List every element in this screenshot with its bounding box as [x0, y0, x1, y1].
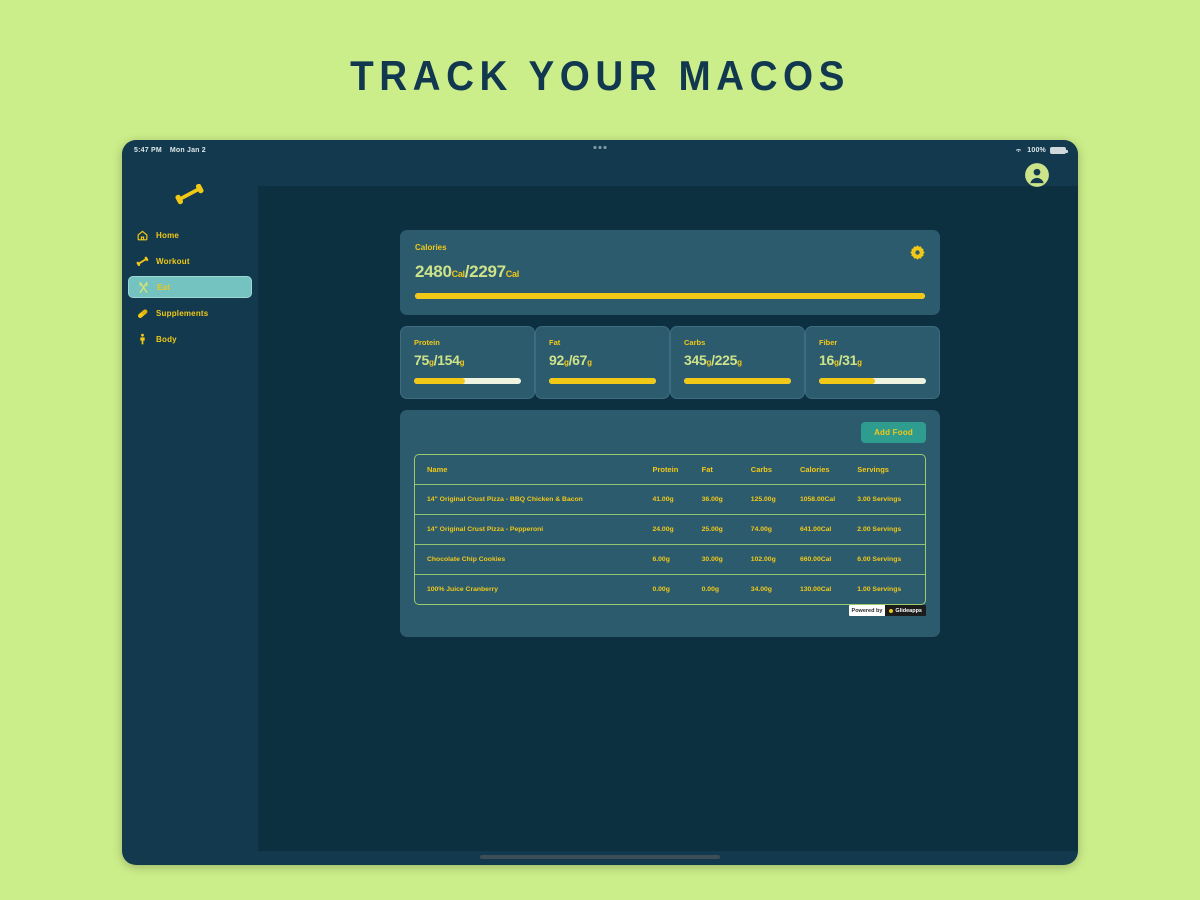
eat-dashboard: Calories 2480Cal/2297Cal Protein 75g/15 [400, 230, 940, 648]
sidebar-item-body[interactable]: Body [128, 328, 252, 350]
macro-card-carbs: Carbs 345g/225g [670, 326, 805, 399]
macro-progress-bar [549, 378, 656, 384]
cell-fat: 30.00g [698, 545, 747, 575]
macro-goal-unit: g [737, 358, 742, 367]
calories-progress-fill [415, 293, 925, 299]
sidebar-item-label: Supplements [156, 309, 208, 318]
sidebar-item-label: Body [156, 335, 177, 344]
macro-goal: 154 [437, 352, 459, 368]
macro-progress-bar [414, 378, 521, 384]
calories-consumed: 2480 [415, 262, 452, 281]
cell-servings: 3.00 Servings [853, 485, 925, 515]
macro-label: Fat [549, 338, 656, 347]
sidebar-item-eat[interactable]: Eat [128, 276, 252, 298]
cell-carbs: 125.00g [747, 485, 796, 515]
column-header-carbs[interactable]: Carbs [747, 455, 796, 485]
macro-progress-fill [549, 378, 656, 384]
table-row[interactable]: Chocolate Chip Cookies 6.00g 30.00g 102.… [415, 545, 925, 575]
macro-progress-fill [819, 378, 875, 384]
status-time: 5:47 PM [134, 147, 162, 154]
macro-value: 345g/225g [684, 352, 791, 368]
column-header-servings[interactable]: Servings [853, 455, 925, 485]
sidebar-item-workout[interactable]: Workout [128, 250, 252, 272]
add-food-button[interactable]: Add Food [861, 422, 926, 443]
cell-protein: 41.00g [648, 485, 697, 515]
macro-current: 75 [414, 352, 429, 368]
macro-goal-unit: g [857, 358, 862, 367]
sidebar-item-label: Workout [156, 257, 190, 266]
dumbbell-logo-icon [175, 184, 205, 206]
main-content-panel: Calories 2480Cal/2297Cal Protein 75g/15 [258, 186, 1078, 851]
macro-progress-fill [684, 378, 791, 384]
calories-consumed-unit: Cal [452, 269, 465, 279]
column-header-fat[interactable]: Fat [698, 455, 747, 485]
cell-protein: 6.00g [648, 545, 697, 575]
calories-card: Calories 2480Cal/2297Cal [400, 230, 940, 315]
camera-notch-icon [594, 146, 607, 149]
sidebar-item-label: Home [156, 231, 179, 240]
calories-progress-bar [415, 293, 925, 299]
person-icon [136, 333, 149, 346]
macro-card-protein: Protein 75g/154g [400, 326, 535, 399]
tablet-device-frame: 5:47 PM Mon Jan 2 100% [122, 140, 1078, 865]
macro-unit: g [429, 358, 434, 367]
calories-label: Calories [415, 243, 925, 252]
watermark-logo-icon [889, 609, 893, 613]
cell-servings: 6.00 Servings [853, 545, 925, 575]
cell-carbs: 34.00g [747, 575, 796, 605]
macro-unit: g [706, 358, 711, 367]
cell-servings: 2.00 Servings [853, 515, 925, 545]
macro-goal-unit: g [587, 358, 592, 367]
cell-calories: 130.00Cal [796, 575, 853, 605]
cell-carbs: 74.00g [747, 515, 796, 545]
cell-name: 100% Juice Cranberry [415, 575, 648, 605]
watermark-brand-label: Glideapps [895, 608, 922, 614]
wifi-icon [1014, 146, 1023, 154]
cell-name: 14" Original Crust Pizza - BBQ Chicken &… [415, 485, 648, 515]
macro-unit: g [564, 358, 569, 367]
cell-fat: 25.00g [698, 515, 747, 545]
macro-current: 16 [819, 352, 834, 368]
macro-goal: 225 [715, 352, 737, 368]
home-icon [136, 229, 149, 242]
calories-goal: 2297 [469, 262, 506, 281]
column-header-name[interactable]: Name [415, 455, 648, 485]
cell-calories: 660.00Cal [796, 545, 853, 575]
macro-goal: 67 [572, 352, 587, 368]
app-logo [122, 178, 258, 212]
sidebar-item-supplements[interactable]: Supplements [128, 302, 252, 324]
cell-fat: 0.00g [698, 575, 747, 605]
page-title: TRACK YOUR MACOS [48, 52, 1152, 100]
column-header-protein[interactable]: Protein [648, 455, 697, 485]
macro-value: 16g/31g [819, 352, 926, 368]
macro-progress-bar [684, 378, 791, 384]
macro-value: 75g/154g [414, 352, 521, 368]
watermark-brand: Glideapps [885, 605, 926, 616]
battery-icon [1050, 147, 1066, 154]
pill-icon [136, 307, 149, 320]
macro-value: 92g/67g [549, 352, 656, 368]
cell-protein: 0.00g [648, 575, 697, 605]
cell-servings: 1.00 Servings [853, 575, 925, 605]
table-row[interactable]: 100% Juice Cranberry 0.00g 0.00g 34.00g … [415, 575, 925, 605]
cell-fat: 36.00g [698, 485, 747, 515]
macro-unit: g [834, 358, 839, 367]
column-header-calories[interactable]: Calories [796, 455, 853, 485]
home-indicator [480, 855, 720, 859]
macro-goal: 31 [842, 352, 857, 368]
watermark-prefix: Powered by [849, 605, 886, 616]
macro-label: Protein [414, 338, 521, 347]
sidebar-item-home[interactable]: Home [128, 224, 252, 246]
status-date: Mon Jan 2 [170, 147, 206, 154]
user-avatar-icon[interactable] [1024, 162, 1050, 188]
table-row[interactable]: 14" Original Crust Pizza - Pepperoni 24.… [415, 515, 925, 545]
dumbbell-icon [136, 255, 149, 268]
food-log-table: Name Protein Fat Carbs Calories Servings… [414, 454, 926, 605]
cell-calories: 641.00Cal [796, 515, 853, 545]
cell-carbs: 102.00g [747, 545, 796, 575]
sidebar-item-label: Eat [157, 283, 170, 292]
macro-goal-unit: g [460, 358, 465, 367]
table-row[interactable]: 14" Original Crust Pizza - BBQ Chicken &… [415, 485, 925, 515]
calories-value: 2480Cal/2297Cal [415, 262, 925, 282]
macro-current: 345 [684, 352, 706, 368]
macro-progress-fill [414, 378, 465, 384]
macro-card-fiber: Fiber 16g/31g [805, 326, 940, 399]
calories-goal-unit: Cal [506, 269, 519, 279]
cell-calories: 1058.00Cal [796, 485, 853, 515]
gear-icon[interactable] [909, 244, 926, 261]
food-log-card: Add Food Name Protein Fat Carbs Calories… [400, 410, 940, 637]
cell-name: Chocolate Chip Cookies [415, 545, 648, 575]
battery-percent-label: 100% [1027, 147, 1046, 154]
cell-protein: 24.00g [648, 515, 697, 545]
table-header-row: Name Protein Fat Carbs Calories Servings [415, 455, 925, 485]
utensils-icon [137, 281, 150, 294]
macro-current: 92 [549, 352, 564, 368]
sidebar: Home Workout Eat [122, 160, 258, 851]
macro-progress-bar [819, 378, 926, 384]
macro-label: Carbs [684, 338, 791, 347]
macro-cards-row: Protein 75g/154g Fat 92g/67g [400, 326, 940, 399]
powered-by-watermark[interactable]: Powered by Glideapps [849, 605, 926, 616]
macro-card-fat: Fat 92g/67g [535, 326, 670, 399]
macro-label: Fiber [819, 338, 926, 347]
status-bar: 5:47 PM Mon Jan 2 100% [122, 140, 1078, 160]
cell-name: 14" Original Crust Pizza - Pepperoni [415, 515, 648, 545]
